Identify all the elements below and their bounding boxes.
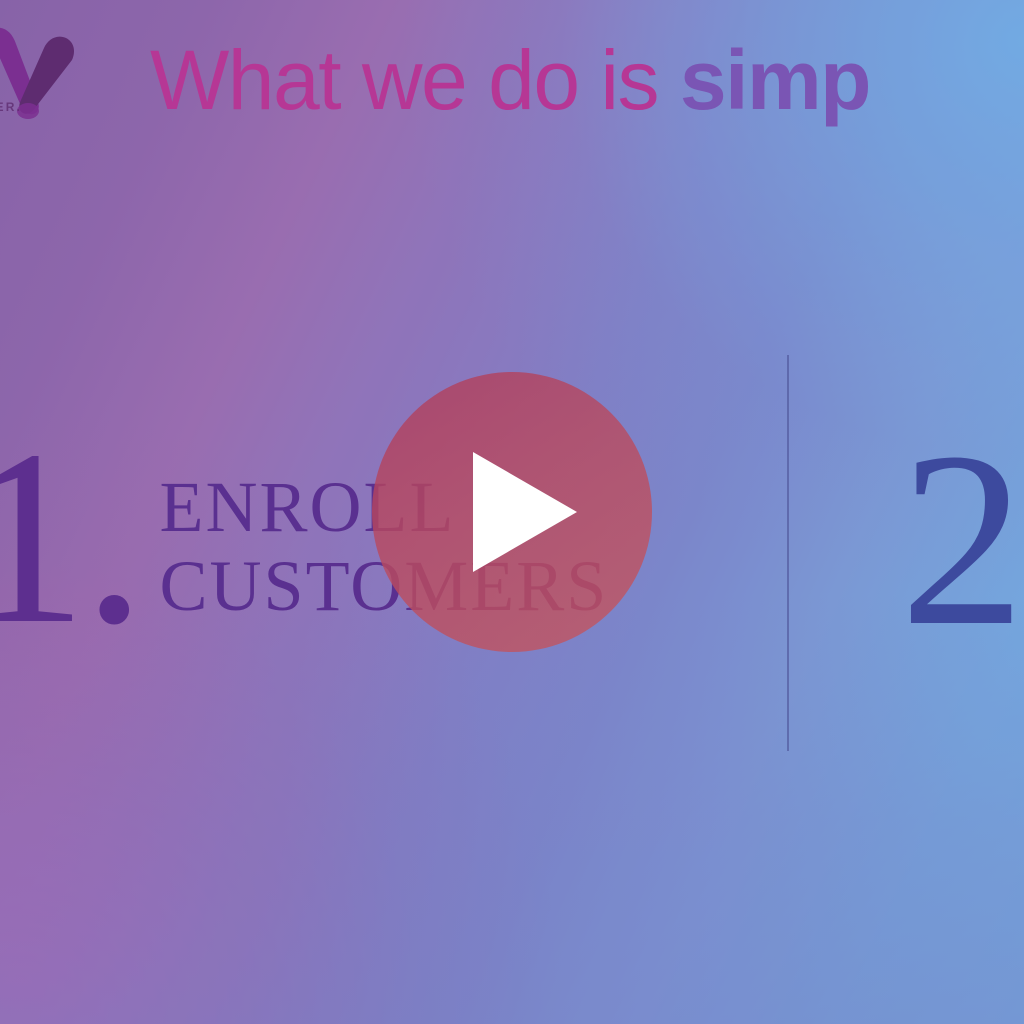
video-poster-frame[interactable]: TER. What we do is simp 1. ENROLL CUSTOM… <box>0 0 1024 1024</box>
step-2-number: 2 <box>900 432 1021 647</box>
steps-divider <box>787 355 789 751</box>
step-1-number: 1. <box>0 430 142 645</box>
step-item-2: 2 <box>900 432 1021 647</box>
play-triangle-icon <box>473 452 577 572</box>
play-button[interactable] <box>372 372 652 652</box>
